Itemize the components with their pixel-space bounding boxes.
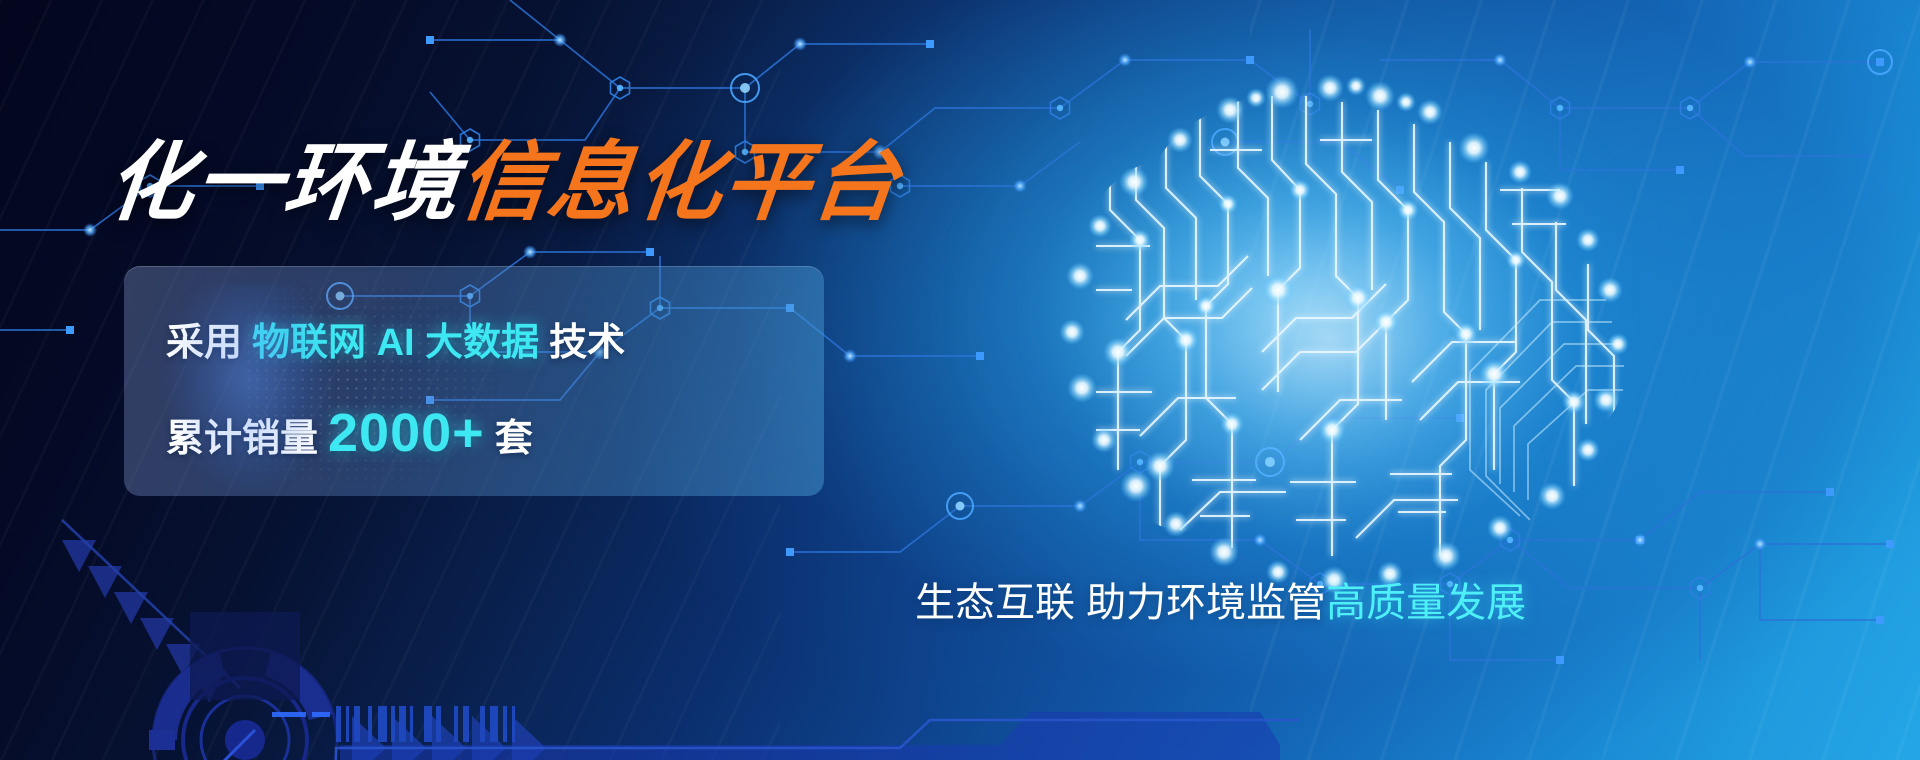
page-title: 化一环境信息化平台: [103, 140, 904, 226]
card-content: 采用物联网 AI 大数据技术 累计销量2000+套: [124, 266, 824, 460]
feature-card: 采用物联网 AI 大数据技术 累计销量2000+套: [124, 266, 824, 496]
tagline: 生态互联 助力环境监管高质量发展: [915, 583, 1526, 623]
tagline-cyan-part: 高质量发展: [1326, 581, 1526, 625]
sales-unit-label: 套: [495, 418, 533, 460]
banner-root: 化一环境信息化平台 采用物联网 AI 大数据技术 累计销量2000+套 生态互联…: [0, 0, 1920, 760]
tech-suffix-label: 技术: [549, 322, 625, 364]
card-line-sales: 累计销量2000+套: [166, 406, 824, 460]
sales-prefix-label: 累计销量: [166, 418, 318, 460]
card-line-technology: 采用物联网 AI 大数据技术: [166, 324, 824, 362]
tech-highlight-label: 物联网 AI 大数据: [252, 322, 539, 364]
tagline-white-part: 生态互联 助力环境监管: [915, 581, 1326, 625]
title-orange-part: 信息化平台: [455, 135, 905, 231]
title-white-part: 化一环境: [103, 135, 465, 231]
tech-prefix-label: 采用: [166, 322, 242, 364]
sales-count-value: 2000+: [328, 403, 485, 463]
